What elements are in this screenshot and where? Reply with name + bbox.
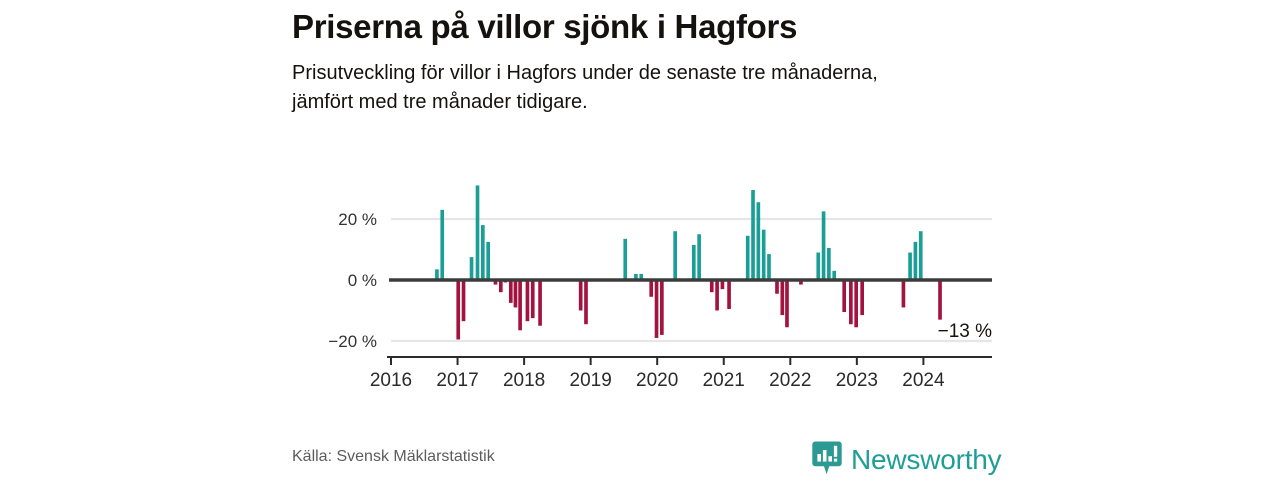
bar: [509, 280, 513, 303]
x-tick-label: 2019: [570, 370, 612, 390]
bar: [697, 234, 701, 280]
bar: [727, 280, 731, 309]
bar: [908, 253, 912, 280]
bar: [499, 280, 503, 292]
bar: [919, 231, 923, 280]
x-tick-label: 2023: [836, 370, 878, 390]
bar: [514, 280, 518, 307]
bar: [440, 210, 444, 280]
end-value-label: −13 %: [938, 321, 992, 342]
chart-header: Priserna på villor sjönk i Hagfors Prisu…: [292, 0, 992, 117]
bar: [780, 280, 784, 315]
y-tick-label: −20 %: [328, 332, 377, 351]
bar: [476, 185, 480, 280]
x-tick-label: 2018: [503, 370, 545, 390]
x-axis: 201620172018201920202021202220232024: [370, 357, 992, 390]
bar: [860, 280, 864, 315]
bar: [762, 230, 766, 280]
x-tick-label: 2020: [636, 370, 678, 390]
value-annotation: −13 %: [938, 321, 992, 342]
bar: [462, 280, 466, 321]
chart-canvas: −20 %0 %20 % 201620172018201920202021202…: [292, 165, 992, 390]
brand-name: Newsworthy: [851, 446, 1001, 474]
bar: [692, 245, 696, 280]
bar: [854, 280, 858, 327]
bar: [538, 280, 542, 326]
bar: [579, 280, 583, 311]
y-axis-labels: −20 %0 %20 %: [328, 210, 377, 351]
bar: [914, 242, 918, 280]
y-tick-label: 0 %: [348, 271, 377, 290]
bar: [470, 257, 474, 280]
x-tick-label: 2022: [769, 370, 811, 390]
chart-footer: Källa: Svensk Mäklarstatistik Newsworthy: [0, 440, 1280, 480]
x-tick-label: 2017: [436, 370, 478, 390]
x-tick-label: 2021: [703, 370, 745, 390]
speech-bubble-bar-chart-icon: [812, 441, 842, 480]
bar: [655, 280, 659, 338]
bar: [816, 253, 820, 280]
bar: [827, 248, 831, 280]
bar-chart: −20 %0 %20 % 201620172018201920202021202…: [292, 165, 992, 390]
bar: [785, 280, 789, 327]
bar: [531, 280, 535, 318]
y-tick-label: 20 %: [338, 210, 377, 229]
bar: [822, 211, 826, 280]
source-note: Källa: Svensk Mäklarstatistik: [292, 448, 495, 466]
bars-group: [435, 185, 942, 339]
bar: [481, 225, 485, 280]
bar: [849, 280, 853, 324]
bar: [842, 280, 846, 312]
bar: [775, 280, 779, 294]
bar: [938, 280, 942, 320]
chart-subtitle: Prisutveckling för villor i Hagfors unde…: [292, 59, 937, 117]
bar: [486, 242, 490, 280]
chart-page: Priserna på villor sjönk i Hagfors Prisu…: [0, 0, 1280, 480]
bar: [649, 280, 653, 297]
bar: [623, 239, 627, 280]
bar: [518, 280, 522, 330]
bar: [456, 280, 460, 339]
bar: [746, 236, 750, 280]
bar: [767, 254, 771, 280]
bar: [660, 280, 664, 335]
bar: [673, 231, 677, 280]
x-tick-label: 2016: [370, 370, 412, 390]
bar: [902, 280, 906, 307]
newsworthy-logo: Newsworthy: [812, 440, 1001, 480]
x-tick-label: 2024: [902, 370, 945, 390]
bar: [751, 190, 755, 280]
bar: [710, 280, 714, 292]
page-title: Priserna på villor sjönk i Hagfors: [292, 8, 992, 47]
bar: [715, 280, 719, 311]
bar: [584, 280, 588, 324]
bar: [757, 202, 761, 280]
bar: [526, 280, 530, 321]
